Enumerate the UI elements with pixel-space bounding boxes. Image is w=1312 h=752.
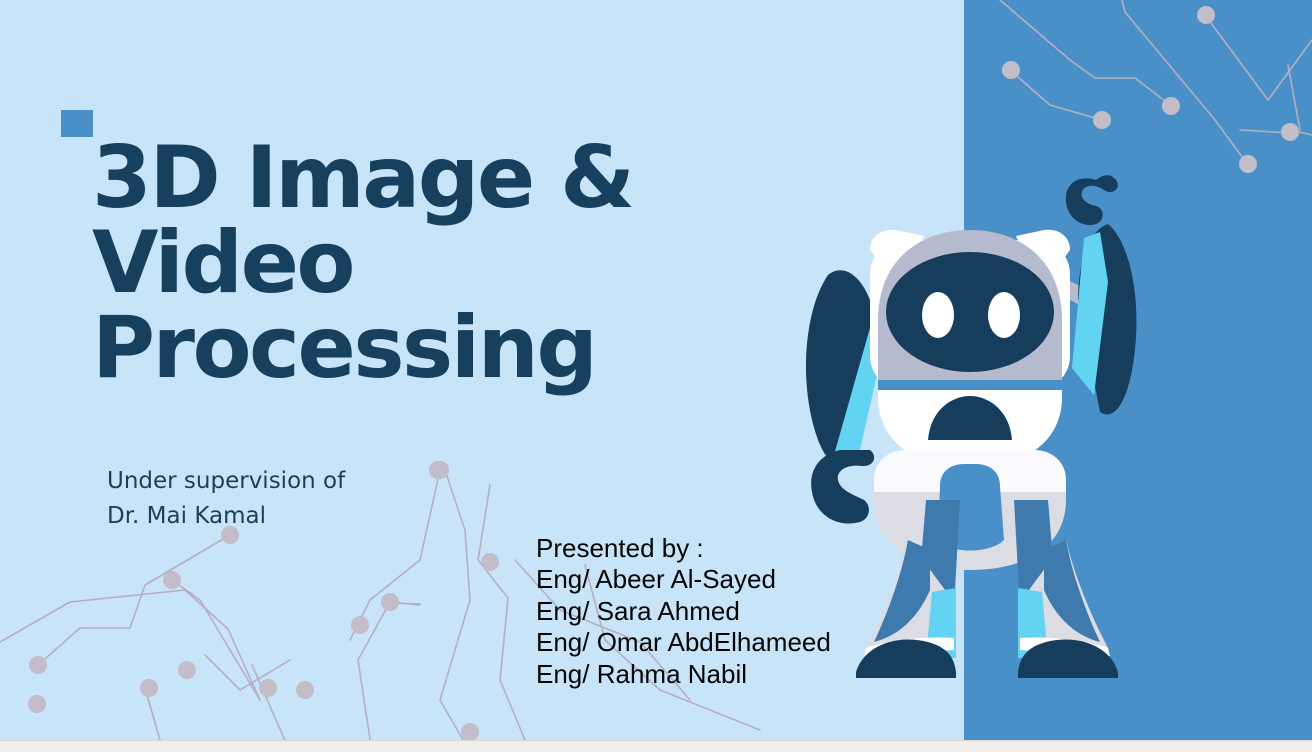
presenter-name: Eng/ Sara Ahmed <box>536 596 956 627</box>
presenter-name: Eng/ Abeer Al-Sayed <box>536 564 956 595</box>
bottom-strip <box>0 740 1312 752</box>
supervision-text: Under supervision of Dr. Mai Kamal <box>107 464 537 534</box>
page-title: 3D Image & Video Processing <box>92 136 652 391</box>
accent-square <box>61 110 93 137</box>
presented-by-label: Presented by : <box>536 533 956 564</box>
presenters-block: Presented by : Eng/ Abeer Al-Sayed Eng/ … <box>536 533 956 690</box>
presenter-name: Eng/ Rahma Nabil <box>536 659 956 690</box>
title-slide: 3D Image & Video Processing Under superv… <box>0 0 1312 752</box>
presenter-name: Eng/ Omar AbdElhameed <box>536 627 956 658</box>
